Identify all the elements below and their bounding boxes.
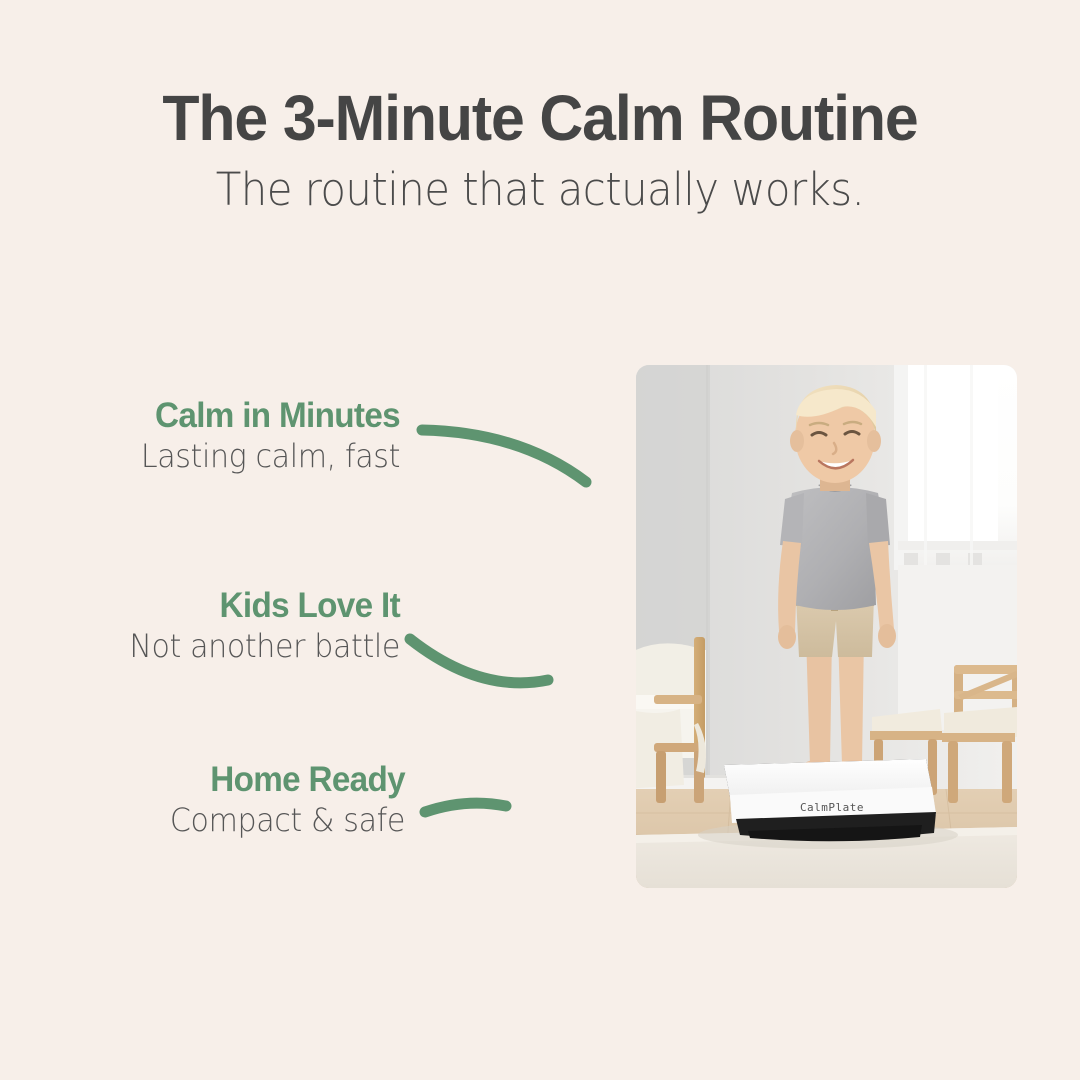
connector-arc-3 [425,803,506,812]
connector-arc-2 [410,639,548,683]
feature-title: Calm in Minutes [96,398,400,435]
page-subtitle: The routine that actually works. [38,163,1042,216]
feature-item-home-ready: Home Ready Compact & safe [80,762,405,837]
feature-subtitle: Lasting calm, fast [99,440,400,474]
connector-arc-1 [422,430,586,482]
feature-subtitle: Not another battle [80,630,400,664]
feature-item-calm-in-minutes: Calm in Minutes Lasting calm, fast [80,398,400,473]
feature-subtitle: Compact & safe [100,804,406,838]
product-brand-label: CalmPlate [800,801,864,814]
product-photo-illustration: CalmPlate [636,365,1017,888]
feature-title: Home Ready [96,762,405,799]
feature-title: Kids Love It [77,588,400,625]
bed [636,637,706,803]
header-block: The 3-Minute Calm Routine The routine th… [0,86,1080,216]
feature-item-kids-love-it: Kids Love It Not another battle [60,588,400,663]
promo-poster: The 3-Minute Calm Routine The routine th… [0,0,1080,1080]
vibration-plate: CalmPlate [698,759,958,849]
product-photo: CalmPlate [636,365,1017,888]
page-title: The 3-Minute Calm Routine [27,86,1053,151]
